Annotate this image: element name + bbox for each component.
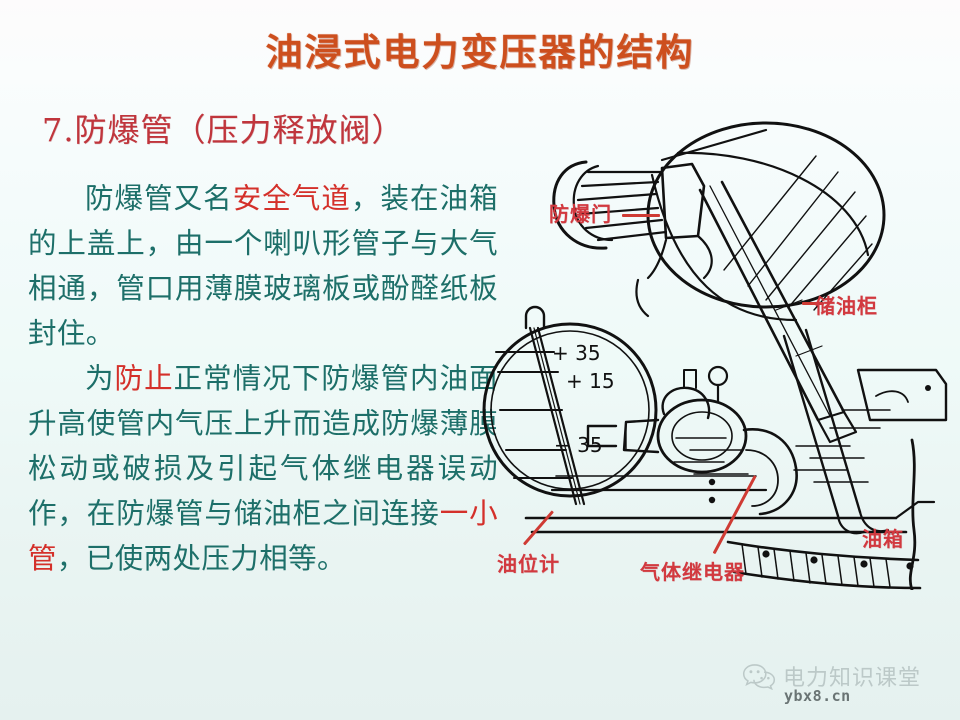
page-title: 油浸式电力变压器的结构 xyxy=(0,22,960,76)
label-oil-level-gauge: 油位计 xyxy=(497,548,560,577)
buchholz-relay-shape xyxy=(588,367,797,514)
label-buchholz-relay: 气体继电器 xyxy=(640,556,745,585)
explosion-vent-pipe-shape xyxy=(554,162,712,316)
oil-level-gauge-shape xyxy=(484,307,656,504)
paragraph-2: 为防止正常情况下防爆管内油面升高使管内气压上升而造成防爆薄膜松动或破损及引起气体… xyxy=(28,356,498,581)
watermark-url: ybx8.cn xyxy=(784,687,851,705)
gauge-scale-numbers: + 35 + 15 − 35 xyxy=(552,341,615,457)
label-oil-tank: 油箱 xyxy=(862,523,904,552)
leader-line-explosion-door xyxy=(622,214,660,217)
slide-root: 油浸式电力变压器的结构 7.防爆管（压力释放阀） 防爆管又名安全气道，装在油箱的… xyxy=(0,0,960,720)
transformer-diagram: + 35 + 15 − 35 xyxy=(466,120,960,590)
transformer-diagram-svg: + 35 + 15 − 35 xyxy=(466,120,960,590)
paragraph-1-highlight: 安全气道 xyxy=(233,182,351,215)
paragraph-1: 防爆管又名安全气道，装在油箱的上盖上，由一个喇叭形管子与大气相通，管口用薄膜玻璃… xyxy=(28,176,498,356)
paragraph-2-post: ，已使两处压力相等。 xyxy=(57,542,346,575)
gauge-mark-plus35: + 35 xyxy=(552,341,601,365)
label-conservator: 储油柜 xyxy=(815,290,878,319)
wechat-icon xyxy=(742,662,776,690)
paragraph-1-pre: 防爆管又名 xyxy=(85,182,233,215)
section-subtitle: 7.防爆管（压力释放阀） xyxy=(42,105,405,151)
label-explosion-door: 防爆门 xyxy=(549,198,612,227)
gauge-mark-plus15: + 15 xyxy=(566,369,615,393)
body-text-block: 防爆管又名安全气道，装在油箱的上盖上，由一个喇叭形管子与大气相通，管口用薄膜玻璃… xyxy=(28,176,498,581)
support-frame-shape xyxy=(784,330,888,533)
paragraph-2-pre: 为 xyxy=(85,362,115,395)
gauge-mark-minus35: − 35 xyxy=(554,433,603,457)
paragraph-2-highlight-1: 防止 xyxy=(115,362,174,395)
